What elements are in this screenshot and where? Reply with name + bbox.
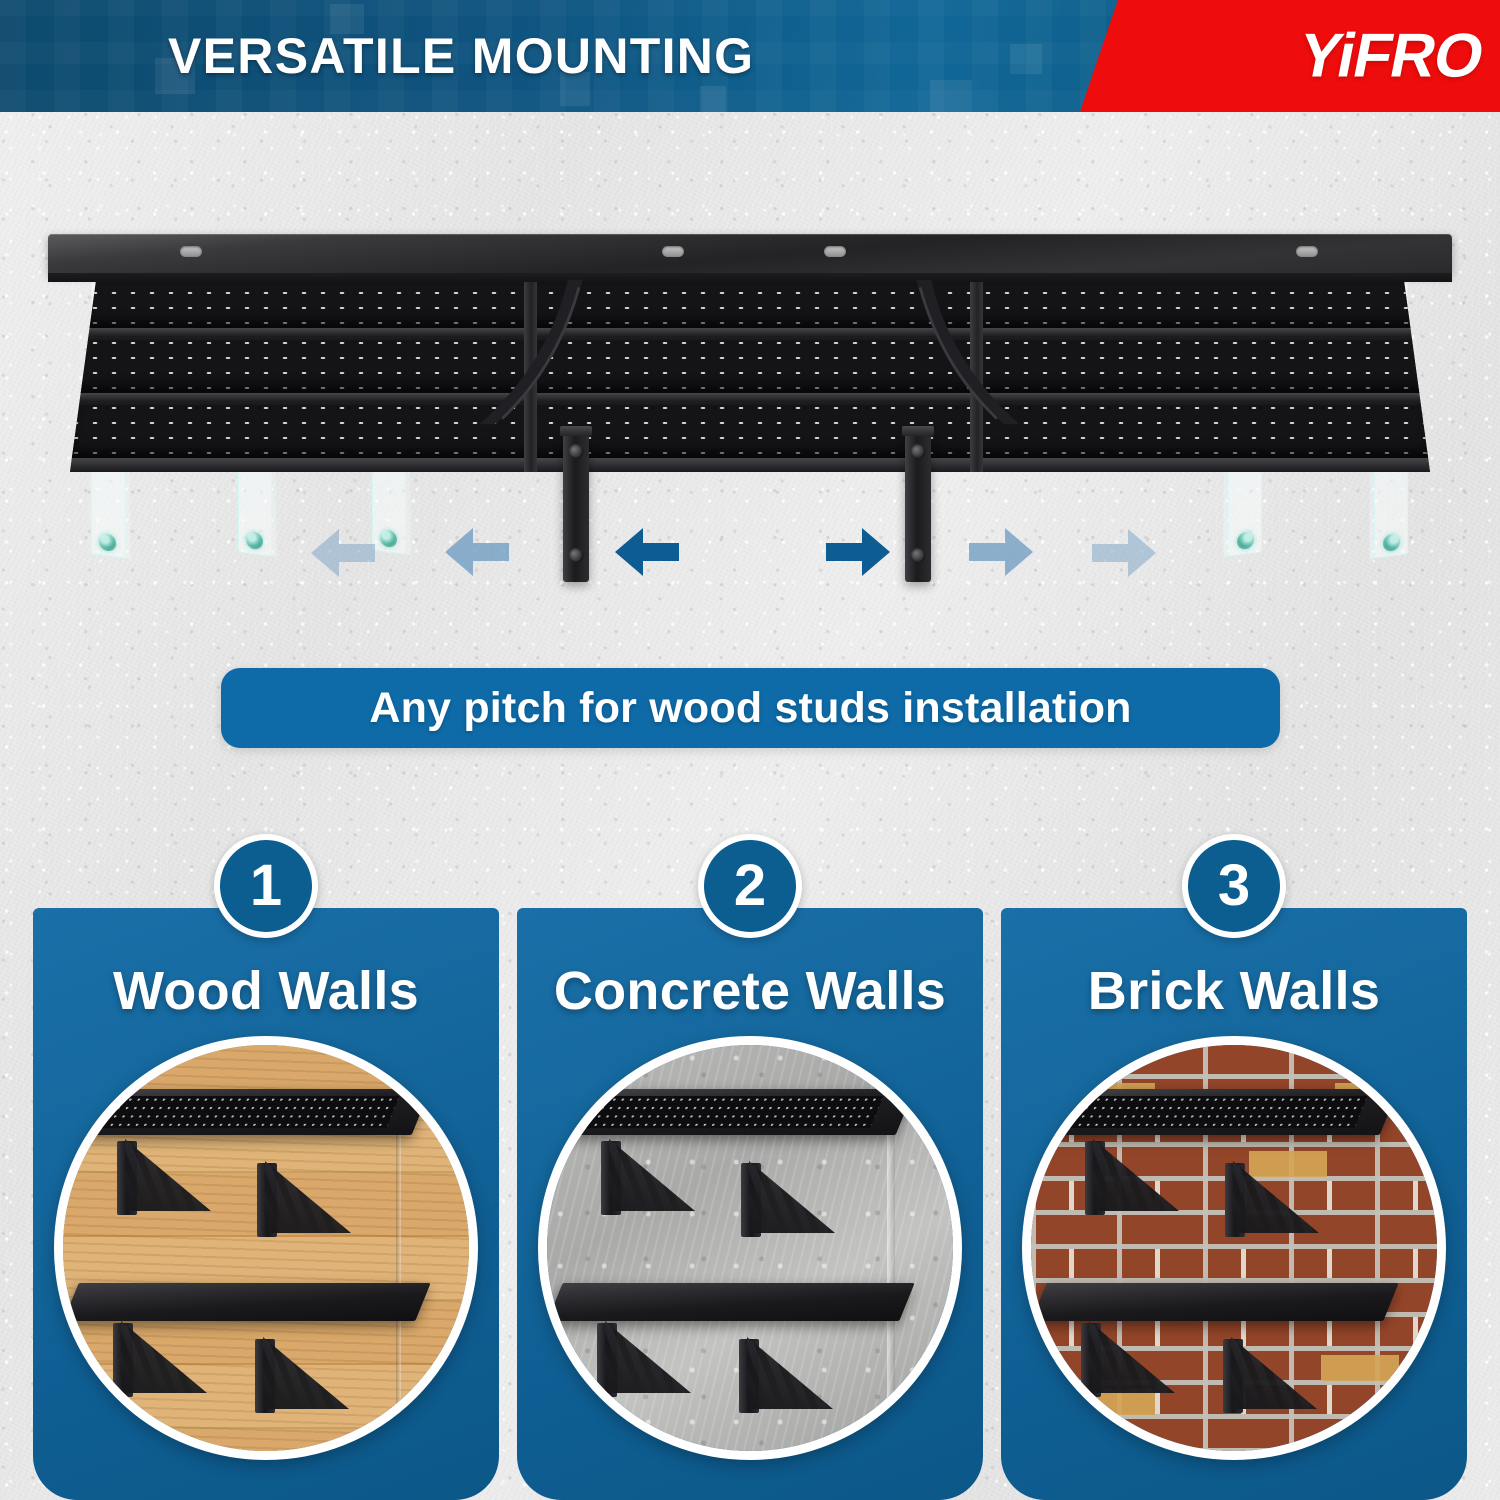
card-title-concrete: Concrete Walls <box>517 960 983 1022</box>
perforated-shelf-deck <box>70 272 1430 472</box>
shelf-surface <box>1036 1089 1399 1135</box>
header-banner: VERSATILE MOUNTING YiFRO <box>0 0 1500 112</box>
shelf-vertical-rib <box>970 272 983 472</box>
shelf-surface <box>1031 1283 1398 1321</box>
wall-type-card-wood[interactable]: 1 Wood Walls <box>33 908 499 1500</box>
brick-offset-row <box>1022 1249 1437 1278</box>
hero-product-illustration <box>0 112 1500 642</box>
photo-content <box>1031 1045 1437 1451</box>
solid-bracket-left <box>563 430 589 582</box>
direction-arrow-left-mid <box>443 526 511 578</box>
step-badge-1: 1 <box>214 834 318 938</box>
wall-type-card-group: 1 Wood Walls <box>0 908 1500 1500</box>
shelf-perforated-row <box>70 337 1430 393</box>
page-title: VERSATILE MOUNTING <box>168 27 754 85</box>
rail-mount-hole <box>1296 246 1318 257</box>
rail-mount-hole <box>824 246 846 257</box>
direction-arrow-left-outer <box>309 527 377 579</box>
shelf-front-lip <box>70 458 1430 472</box>
shelf-cross-rail <box>70 393 1430 402</box>
shelf-perforation <box>582 1096 884 1128</box>
product-photo-wood[interactable] <box>54 1036 478 1460</box>
photo-content <box>63 1045 469 1451</box>
header-accent-square <box>930 80 972 112</box>
step-number: 3 <box>1218 857 1250 915</box>
card-title-brick: Brick Walls <box>1001 960 1467 1022</box>
infographic-page: VERSATILE MOUNTING YiFRO <box>0 0 1500 1500</box>
direction-arrow-right-mid <box>967 526 1035 578</box>
step-number: 1 <box>250 857 282 915</box>
direction-arrow-left-inner <box>613 526 681 578</box>
shelf-surface <box>68 1089 431 1135</box>
caption-text: Any pitch for wood studs installation <box>369 684 1131 733</box>
mini-shelf-upper <box>77 1089 421 1139</box>
direction-arrow-right-outer <box>1090 527 1158 579</box>
shelf-vertical-rib <box>524 272 537 472</box>
step-badge-2: 2 <box>698 834 802 938</box>
card-title-wood: Wood Walls <box>33 960 499 1022</box>
bracket-bolt-icon <box>911 548 926 563</box>
bracket-bolt-icon <box>569 444 584 459</box>
shelf-surface <box>552 1089 915 1135</box>
mini-shelf-lower <box>1039 1283 1391 1327</box>
mini-shelf-lower <box>71 1283 423 1327</box>
direction-arrow-right-inner <box>824 526 892 578</box>
step-number: 2 <box>734 857 766 915</box>
shelf-top-rail <box>48 234 1452 274</box>
rail-mount-hole <box>180 246 202 257</box>
header-accent-square <box>1010 44 1042 74</box>
bracket-bolt-icon <box>569 548 584 563</box>
brand-logo: YiFRO <box>1293 21 1489 92</box>
shelf-cross-rail <box>70 328 1430 337</box>
step-badge-3: 3 <box>1182 834 1286 938</box>
mini-shelf-upper <box>1045 1089 1389 1139</box>
brick-accent <box>1249 1151 1327 1177</box>
caption-banner: Any pitch for wood studs installation <box>221 668 1280 748</box>
header-accent-square <box>700 86 726 112</box>
product-photo-concrete[interactable] <box>538 1036 962 1460</box>
product-photo-brick[interactable] <box>1022 1036 1446 1460</box>
brick-accent <box>1321 1355 1399 1381</box>
shelf-perforation <box>98 1096 400 1128</box>
mini-shelf-upper <box>561 1089 905 1139</box>
shelf-perforated-row <box>70 402 1430 458</box>
shelf-surface <box>63 1283 430 1321</box>
mini-shelf-lower <box>555 1283 907 1327</box>
photo-content <box>547 1045 953 1451</box>
bracket-bolt-icon <box>911 444 926 459</box>
shelf-surface <box>547 1283 914 1321</box>
rail-mount-hole <box>662 246 684 257</box>
wall-type-card-concrete[interactable]: 2 Concrete Walls <box>517 908 983 1500</box>
wall-type-card-brick[interactable]: 3 Brick Walls <box>1001 908 1467 1500</box>
solid-bracket-right <box>905 430 931 582</box>
shelf-perforation <box>1066 1096 1368 1128</box>
